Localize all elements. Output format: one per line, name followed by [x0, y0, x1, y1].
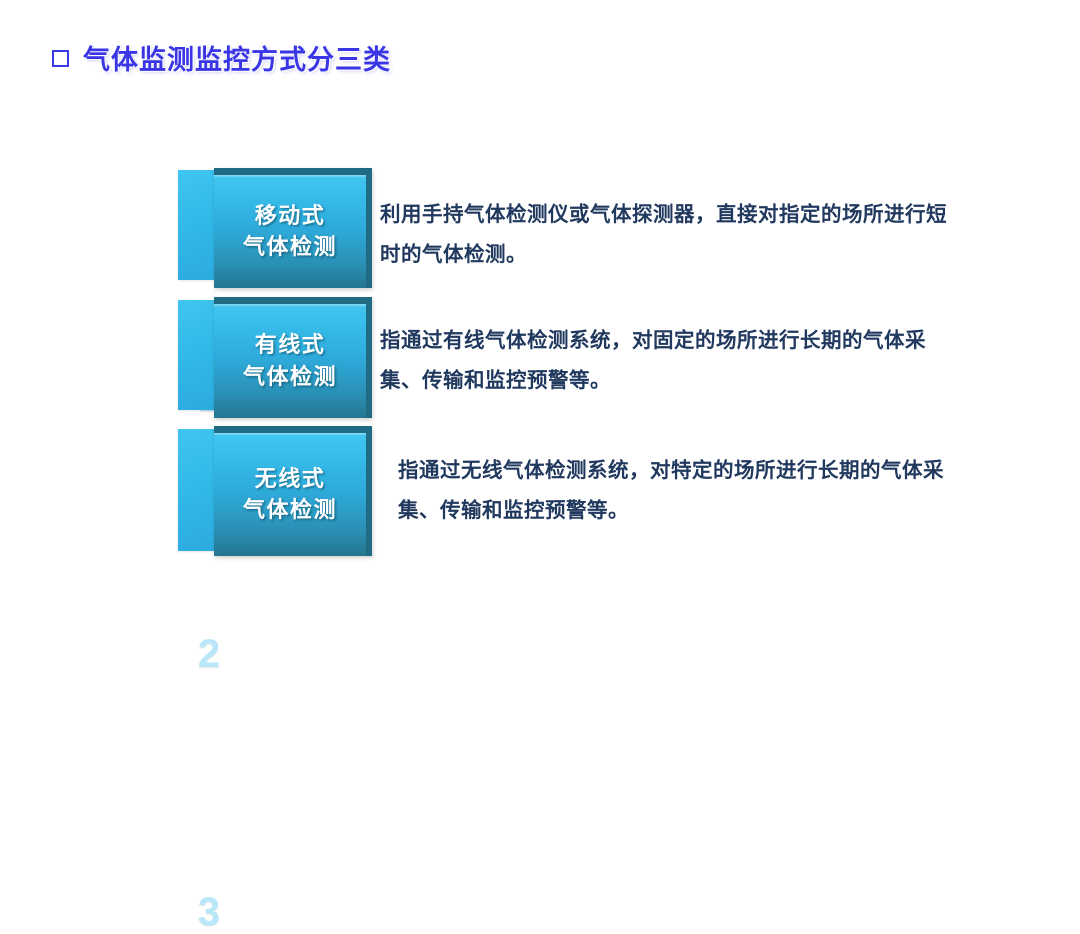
category-number: 2: [178, 634, 240, 674]
category-description: 利用手持气体检测仪或气体探测器，直接对指定的场所进行短时的气体检测。: [380, 196, 950, 276]
category-label-box[interactable]: 移动式 气体检测: [214, 168, 372, 288]
category-label-line-2: 气体检测: [243, 235, 337, 259]
category-number: 3: [178, 892, 240, 932]
slide-canvas: 气体监测监控方式分三类 1 移动式 气体检测 利用手持气体检测仪或气体探测器，直…: [0, 0, 1080, 608]
category-list: 1 移动式 气体检测 利用手持气体检测仪或气体探测器，直接对指定的场所进行短时的…: [0, 0, 1080, 608]
category-description: 指通过有线气体检测系统，对固定的场所进行长期的气体采集、传输和监控预警等。: [380, 322, 950, 402]
category-label-line-1: 移动式: [255, 204, 326, 228]
category-label-box[interactable]: 有线式 气体检测: [214, 297, 372, 418]
category-label-line-1: 有线式: [255, 333, 326, 357]
category-label-box[interactable]: 无线式 气体检测: [214, 426, 372, 556]
category-label-line-1: 无线式: [255, 467, 326, 491]
category-label-line-2: 气体检测: [243, 498, 337, 522]
category-description: 指通过无线气体检测系统，对特定的场所进行长期的气体采集、传输和监控预警等。: [398, 452, 958, 532]
category-label-line-2: 气体检测: [243, 365, 337, 389]
